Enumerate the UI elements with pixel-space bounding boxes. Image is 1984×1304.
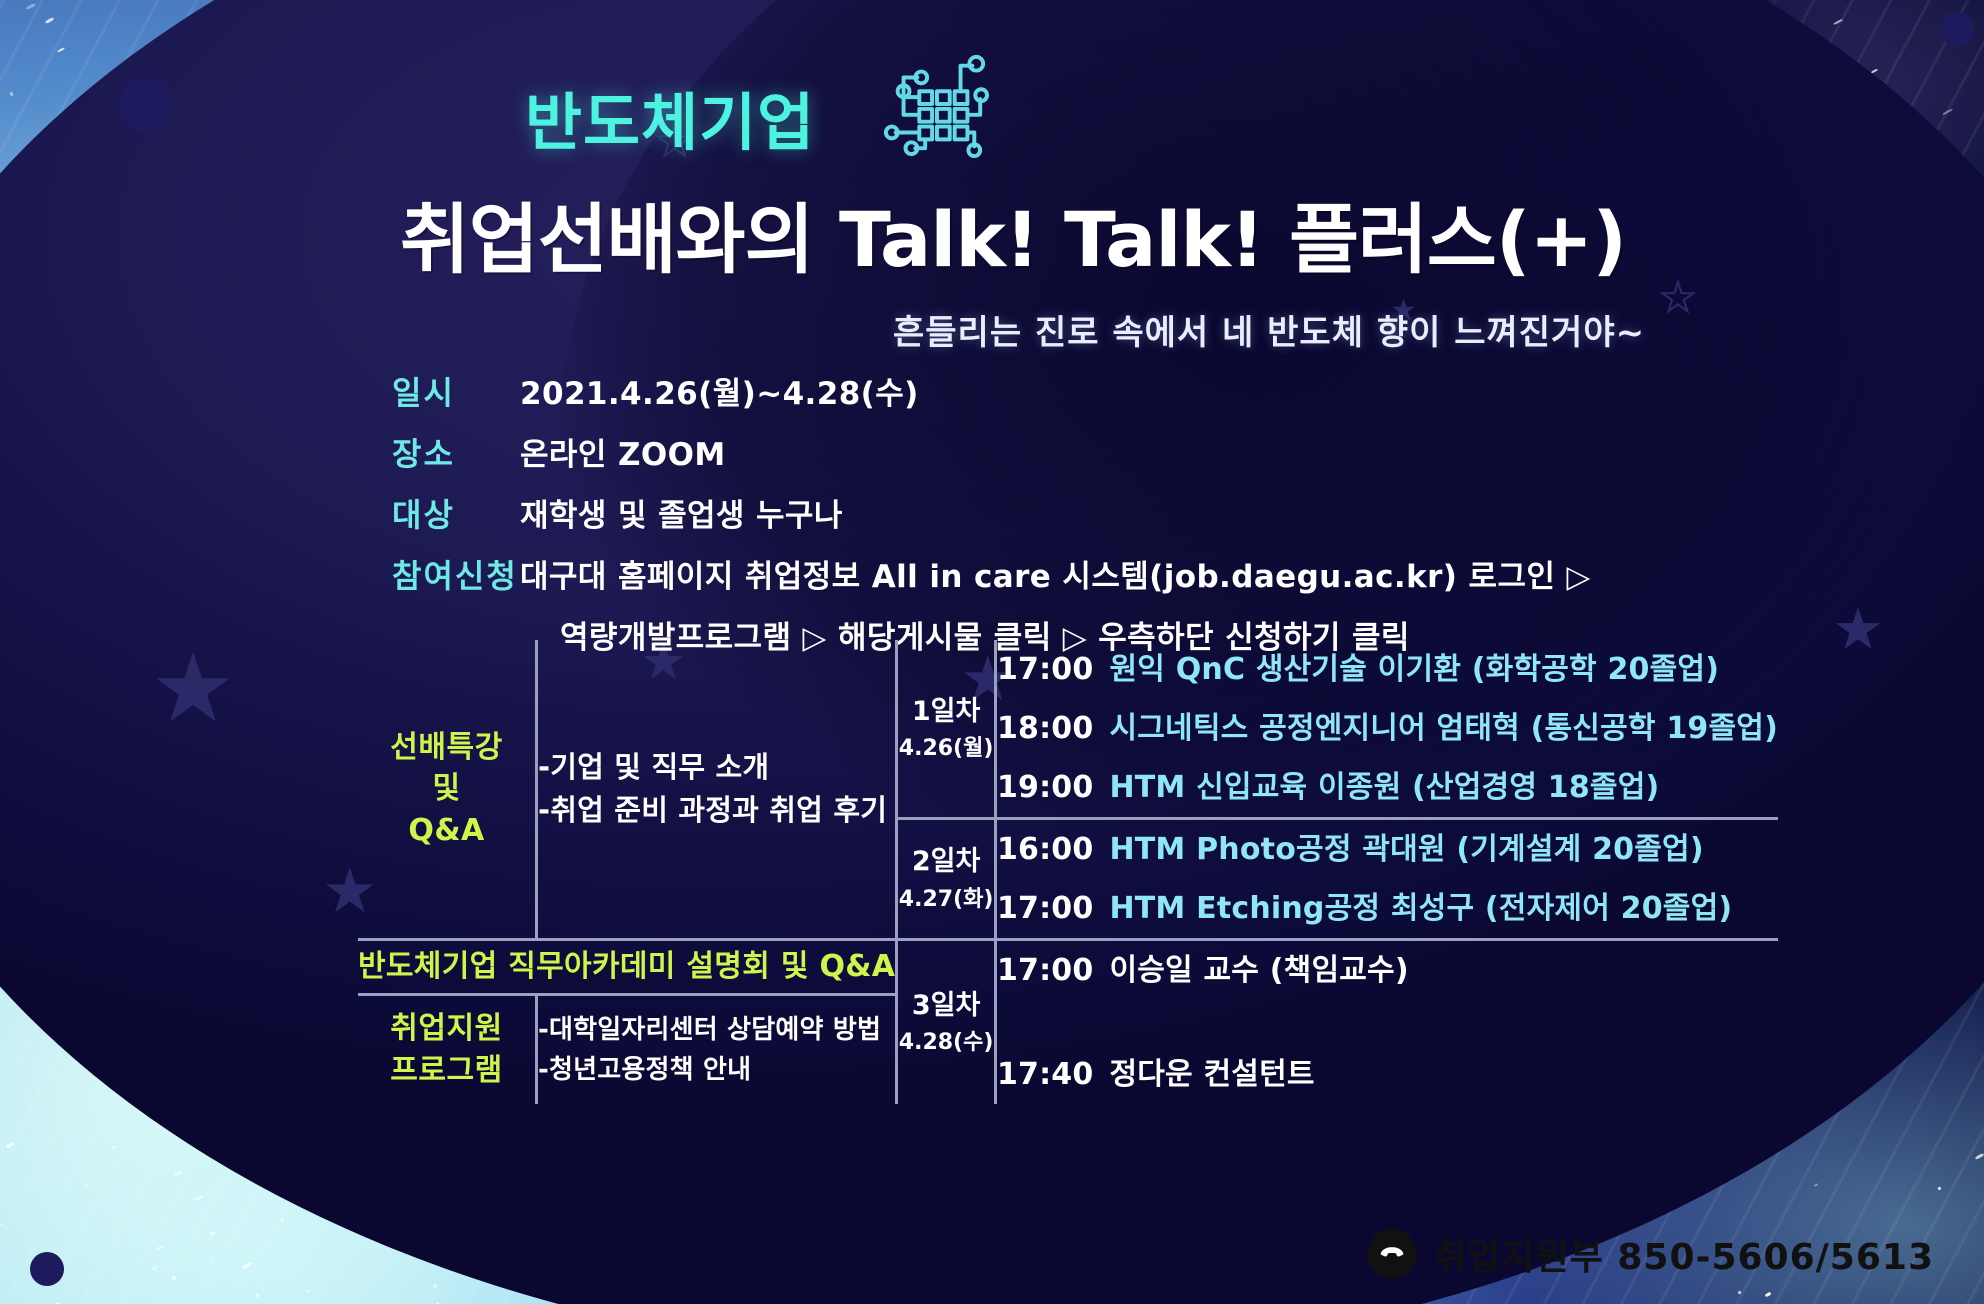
session-row: 17:00 이승일 교수 (책임교수) (997, 941, 1778, 1000)
info-label: 장소 (392, 429, 520, 475)
info-row-audience: 대상 재학생 및 졸업생 누구나 (392, 490, 1692, 536)
day-label: 2일차 (898, 842, 994, 883)
session-text: 원익 QnC 생산기술 이기환 (화학공학 20졸업) (1109, 653, 1719, 686)
description-line-2: -취업 준비 과정과 취업 후기 (538, 789, 895, 833)
schedule-support-category-cell: 취업지원 프로그램 (358, 994, 537, 1104)
schedule-support-description-cell: -대학일자리센터 상담예약 방법 -청년고용정책 안내 (537, 994, 897, 1104)
tagline: 흔들리는 진로 속에서 네 반도체 향이 느껴진거야~ (893, 305, 1645, 354)
day-label: 3일차 (898, 986, 994, 1027)
schedule-description-cell: -기업 및 직무 소개 -취업 준비 과정과 취업 후기 (537, 640, 897, 940)
kicker-text: 반도체기업 (525, 72, 815, 162)
info-value: 재학생 및 졸업생 누구나 (520, 490, 843, 535)
schedule-table: 선배특강 및 Q&A -기업 및 직무 소개 -취업 준비 과정과 취업 후기 … (358, 640, 1778, 1104)
session-text: 이승일 교수 (책임교수) (1109, 954, 1408, 987)
schedule-day-cell-2: 2일차 4.27(화) (897, 819, 996, 940)
schedule-day-cell-3: 3일차 4.28(수) (897, 940, 996, 1105)
session-row: 17:00 원익 QnC 생산기술 이기환 (화학공학 20졸업) (997, 640, 1778, 699)
info-row-place: 장소 온라인 ZOOM (392, 429, 1692, 475)
category-line-1: 선배특강 (358, 727, 535, 768)
category-line-3: Q&A (358, 810, 535, 851)
description-line-2: -청년고용정책 안내 (538, 1050, 895, 1090)
decorative-star: ★ (150, 640, 236, 736)
session-row: 16:00 HTM Photo공정 곽대원 (기계설계 20졸업) (997, 820, 1778, 879)
session-time: 17:40 (997, 1058, 1094, 1091)
session-time: 19:00 (997, 771, 1094, 804)
info-value: 대구대 홈페이지 취업정보 All in care 시스템(job.daegu.… (520, 551, 1591, 596)
day-label: 1일차 (898, 692, 994, 733)
description-line-1: -기업 및 직무 소개 (538, 746, 895, 790)
session-time: 17:00 (997, 892, 1094, 925)
info-label: 대상 (392, 490, 520, 536)
session-row: 19:00 HTM 신입교육 이종원 (산업경영 18졸업) (997, 758, 1778, 817)
table-row: 반도체기업 직무아카데미 설명회 및 Q&A 3일차 4.28(수) 17:00… (358, 940, 1778, 995)
schedule-sessions-cell-2: 16:00 HTM Photo공정 곽대원 (기계설계 20졸업) 17:00 … (995, 819, 1778, 940)
schedule-sessions-cell-3: 17:00 이승일 교수 (책임교수) 17:40 정다운 컨설턴트 (995, 940, 1778, 1105)
footer-contact-text: 취업지원부 850-5606/5613 (1433, 1228, 1934, 1280)
session-time: 18:00 (997, 712, 1094, 745)
session-time: 17:00 (997, 954, 1094, 987)
decorative-dot (1940, 12, 1974, 46)
session-text: HTM 신입교육 이종원 (산업경영 18졸업) (1109, 771, 1659, 804)
decorative-dot (118, 78, 172, 132)
category-line-2: 프로그램 (358, 1050, 535, 1091)
schedule-category-cell: 선배특강 및 Q&A (358, 640, 537, 940)
schedule-day-cell-1: 1일차 4.26(월) (897, 640, 996, 819)
schedule-academy-title-cell: 반도체기업 직무아카데미 설명회 및 Q&A (358, 940, 897, 995)
session-time: 17:00 (997, 653, 1094, 686)
session-text: 시그네틱스 공정엔지니어 엄태혁 (통신공학 19졸업) (1109, 712, 1778, 745)
description-line-1: -대학일자리센터 상담예약 방법 (538, 1010, 895, 1050)
info-label: 일시 (392, 368, 520, 414)
session-text: HTM Etching공정 최성구 (전자제어 20졸업) (1109, 892, 1732, 925)
event-info-block: 일시 2021.4.26(월)~4.28(수) 장소 온라인 ZOOM 대상 재… (392, 368, 1692, 657)
poster-root: ★ ★ ★ ★ ★ ★ ★ ★ 반도체기업 (0, 0, 1984, 1304)
day-date: 4.28(수) (898, 1026, 994, 1059)
decorative-star-outline: ★ (1660, 278, 1696, 318)
session-row: 17:40 정다운 컨설턴트 (997, 1000, 1778, 1104)
day-date: 4.27(화) (898, 883, 994, 916)
category-line-2: 및 (358, 768, 535, 809)
session-row: 18:00 시그네틱스 공정엔지니어 엄태혁 (통신공학 19졸업) (997, 699, 1778, 758)
circuit-chip-icon (876, 48, 994, 160)
decorative-star: ★ (1832, 600, 1884, 658)
phone-icon (1367, 1229, 1417, 1279)
decorative-dot (30, 1252, 64, 1286)
session-text: HTM Photo공정 곽대원 (기계설계 20졸업) (1109, 833, 1703, 866)
session-row: 17:00 HTM Etching공정 최성구 (전자제어 20졸업) (997, 879, 1778, 938)
info-label: 참여신청 (392, 551, 520, 597)
schedule-sessions-cell-1: 17:00 원익 QnC 생산기술 이기환 (화학공학 20졸업) 18:00 … (995, 640, 1778, 819)
day-date: 4.26(월) (898, 732, 994, 765)
category-line-1: 취업지원 (358, 1008, 535, 1049)
page-title: 취업선배와의 Talk! Talk! 플러스(+) (400, 178, 1626, 288)
info-row-date: 일시 2021.4.26(월)~4.28(수) (392, 368, 1692, 414)
info-value: 온라인 ZOOM (520, 429, 726, 474)
session-time: 16:00 (997, 833, 1094, 866)
session-text: 정다운 컨설턴트 (1109, 1058, 1314, 1091)
table-row: 선배특강 및 Q&A -기업 및 직무 소개 -취업 준비 과정과 취업 후기 … (358, 640, 1778, 819)
footer-contact: 취업지원부 850-5606/5613 (1367, 1228, 1934, 1280)
info-row-application: 참여신청 대구대 홈페이지 취업정보 All in care 시스템(job.d… (392, 551, 1692, 597)
info-value: 2021.4.26(월)~4.28(수) (520, 368, 919, 413)
academy-title: 반도체기업 직무아카데미 설명회 및 Q&A (358, 949, 895, 984)
